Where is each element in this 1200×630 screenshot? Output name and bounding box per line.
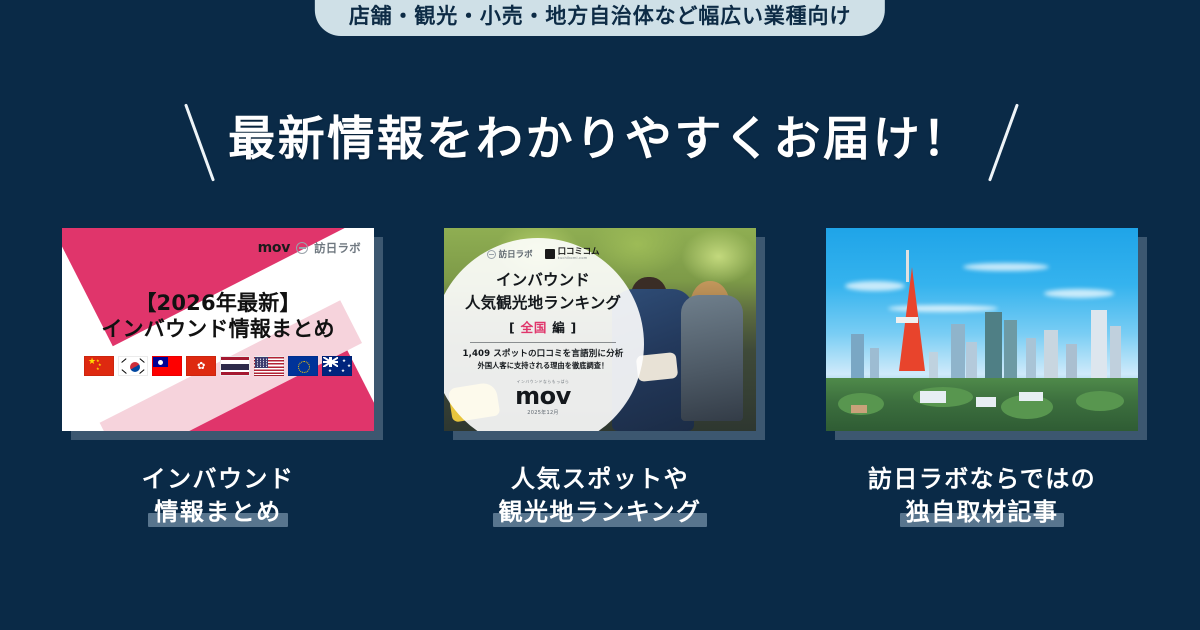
building-shape bbox=[1091, 310, 1107, 382]
cloud-shape bbox=[963, 263, 1049, 271]
mov-logo: mov bbox=[258, 240, 291, 256]
mov-logo: mov bbox=[450, 385, 636, 407]
building-shape bbox=[1026, 338, 1036, 382]
tokyo-tower-mast bbox=[906, 250, 909, 282]
card2-mov-block: インバウンドならもっぱら mov 2025年12月 bbox=[450, 379, 636, 416]
card2-logo-group: 訪日ラボ 口コミコム kuchikomi.com bbox=[450, 248, 636, 260]
eu-flag bbox=[288, 356, 318, 376]
usa-flag bbox=[254, 356, 284, 376]
temple-building bbox=[851, 405, 867, 413]
thailand-flag bbox=[220, 356, 250, 376]
card2-stat-line1: 1,409 スポットの口コミを言語別に分析 bbox=[450, 348, 636, 361]
card2-caption: 人気スポットや 観光地ランキング bbox=[444, 463, 756, 529]
tokyo-tower-deck bbox=[896, 317, 918, 323]
kuchikomi-subtext: kuchikomi.com bbox=[558, 257, 588, 261]
kuchikomi-square-icon bbox=[545, 249, 555, 259]
card2-caption-line2: 観光地ランキング bbox=[499, 496, 702, 529]
card3-caption-line2: 独自取材記事 bbox=[906, 496, 1059, 529]
card1-title: 【2026年最新】 インバウンド情報まとめ bbox=[62, 290, 374, 344]
low-building bbox=[1019, 392, 1043, 401]
badge-prefix: [ bbox=[509, 320, 515, 335]
card3-caption-line1: 訪日ラボならではの bbox=[826, 463, 1138, 496]
card1-title-line1: 【2026年最新】 bbox=[62, 290, 374, 316]
tree-cluster bbox=[1076, 391, 1124, 411]
card1-title-line2: インバウンド情報まとめ bbox=[62, 316, 374, 343]
circle-dash-icon bbox=[296, 242, 308, 254]
hong-kong-flag: ✿ bbox=[186, 356, 216, 376]
flag-strip: ★★★★ ✿ bbox=[62, 356, 374, 376]
card-row: mov 訪日ラボ 【2026年最新】 インバウンド情報まとめ ★★★★ bbox=[0, 228, 1200, 529]
china-flag: ★★★★ bbox=[84, 356, 114, 376]
card1-caption-line2: 情報まとめ bbox=[154, 496, 281, 529]
card2-title-line2: 人気観光地ランキング bbox=[450, 292, 636, 314]
building-shape bbox=[1044, 330, 1058, 382]
australia-flag: ★ ★ ★ ★ bbox=[322, 356, 352, 376]
circle-dash-icon bbox=[487, 250, 496, 259]
building-shape bbox=[1066, 344, 1077, 382]
badge-highlight: 全国 bbox=[521, 320, 548, 335]
industry-banner-pill: 店舗・観光・小売・地方自治体など幅広い業種向け bbox=[315, 0, 885, 36]
thumbnail-image[interactable] bbox=[826, 228, 1138, 431]
page-title: 最新情報をわかりやすくお届け！ bbox=[228, 114, 972, 166]
hounichi-lab-logo: 訪日ラボ bbox=[314, 240, 361, 256]
slash-right-icon bbox=[998, 104, 1034, 176]
card-inbound-summary[interactable]: mov 訪日ラボ 【2026年最新】 インバウンド情報まとめ ★★★★ bbox=[62, 228, 374, 529]
building-shape bbox=[966, 342, 977, 382]
south-korea-flag bbox=[118, 356, 148, 376]
card2-caption-line1: 人気スポットや bbox=[444, 463, 756, 496]
taiwan-flag bbox=[152, 356, 182, 376]
thumbnail-image[interactable]: 訪日ラボ 口コミコム kuchikomi.com インバウンド 人気観光地ランキ… bbox=[444, 228, 756, 431]
badge-suffix: 編 ] bbox=[552, 320, 577, 335]
card3-caption: 訪日ラボならではの 独自取材記事 bbox=[826, 463, 1138, 529]
headline-row: 最新情報をわかりやすくお届け！ bbox=[0, 104, 1200, 176]
card1-caption: インバウンド 情報まとめ bbox=[62, 463, 374, 529]
card2-stat-line2: 外国人客に支持される理由を徹底調査！ bbox=[450, 361, 636, 372]
card2-content: 訪日ラボ 口コミコム kuchikomi.com インバウンド 人気観光地ランキ… bbox=[450, 248, 636, 416]
card-original-articles[interactable]: 訪日ラボならではの 独自取材記事 bbox=[826, 228, 1138, 529]
cloud-shape bbox=[1044, 289, 1114, 298]
building-shape bbox=[951, 324, 965, 382]
low-building bbox=[920, 391, 946, 403]
thumbnail-wrap[interactable] bbox=[826, 228, 1138, 431]
card-popular-spots-ranking[interactable]: 訪日ラボ 口コミコム kuchikomi.com インバウンド 人気観光地ランキ… bbox=[444, 228, 756, 529]
divider-rule bbox=[470, 342, 616, 343]
thumbnail-image[interactable]: mov 訪日ラボ 【2026年最新】 インバウンド情報まとめ ★★★★ bbox=[62, 228, 374, 431]
person-second bbox=[681, 295, 743, 421]
hounichi-lab-logo: 訪日ラボ bbox=[487, 248, 533, 260]
thumbnail-wrap[interactable]: mov 訪日ラボ 【2026年最新】 インバウンド情報まとめ ★★★★ bbox=[62, 228, 374, 431]
card2-title-line1: インバウンド bbox=[450, 269, 636, 291]
building-shape bbox=[1004, 320, 1017, 382]
card2-region-badge: [ 全国 編 ] bbox=[450, 317, 636, 336]
building-shape bbox=[870, 348, 879, 382]
card1-caption-line1: インバウンド bbox=[62, 463, 374, 496]
card1-logo-group: mov 訪日ラボ bbox=[258, 240, 361, 256]
building-shape bbox=[985, 312, 1002, 382]
kuchikomi-logo: 口コミコム kuchikomi.com bbox=[545, 248, 600, 260]
publish-date: 2025年12月 bbox=[450, 409, 636, 416]
slash-left-icon bbox=[166, 104, 202, 176]
building-shape bbox=[851, 334, 864, 382]
hounichi-lab-text: 訪日ラボ bbox=[499, 248, 533, 260]
building-shape bbox=[1110, 326, 1121, 382]
low-building bbox=[976, 397, 996, 407]
industry-banner-text: 店舗・観光・小売・地方自治体など幅広い業種向け bbox=[349, 6, 851, 27]
cloud-shape bbox=[845, 281, 905, 291]
thumbnail-wrap[interactable]: 訪日ラボ 口コミコム kuchikomi.com インバウンド 人気観光地ランキ… bbox=[444, 228, 756, 431]
